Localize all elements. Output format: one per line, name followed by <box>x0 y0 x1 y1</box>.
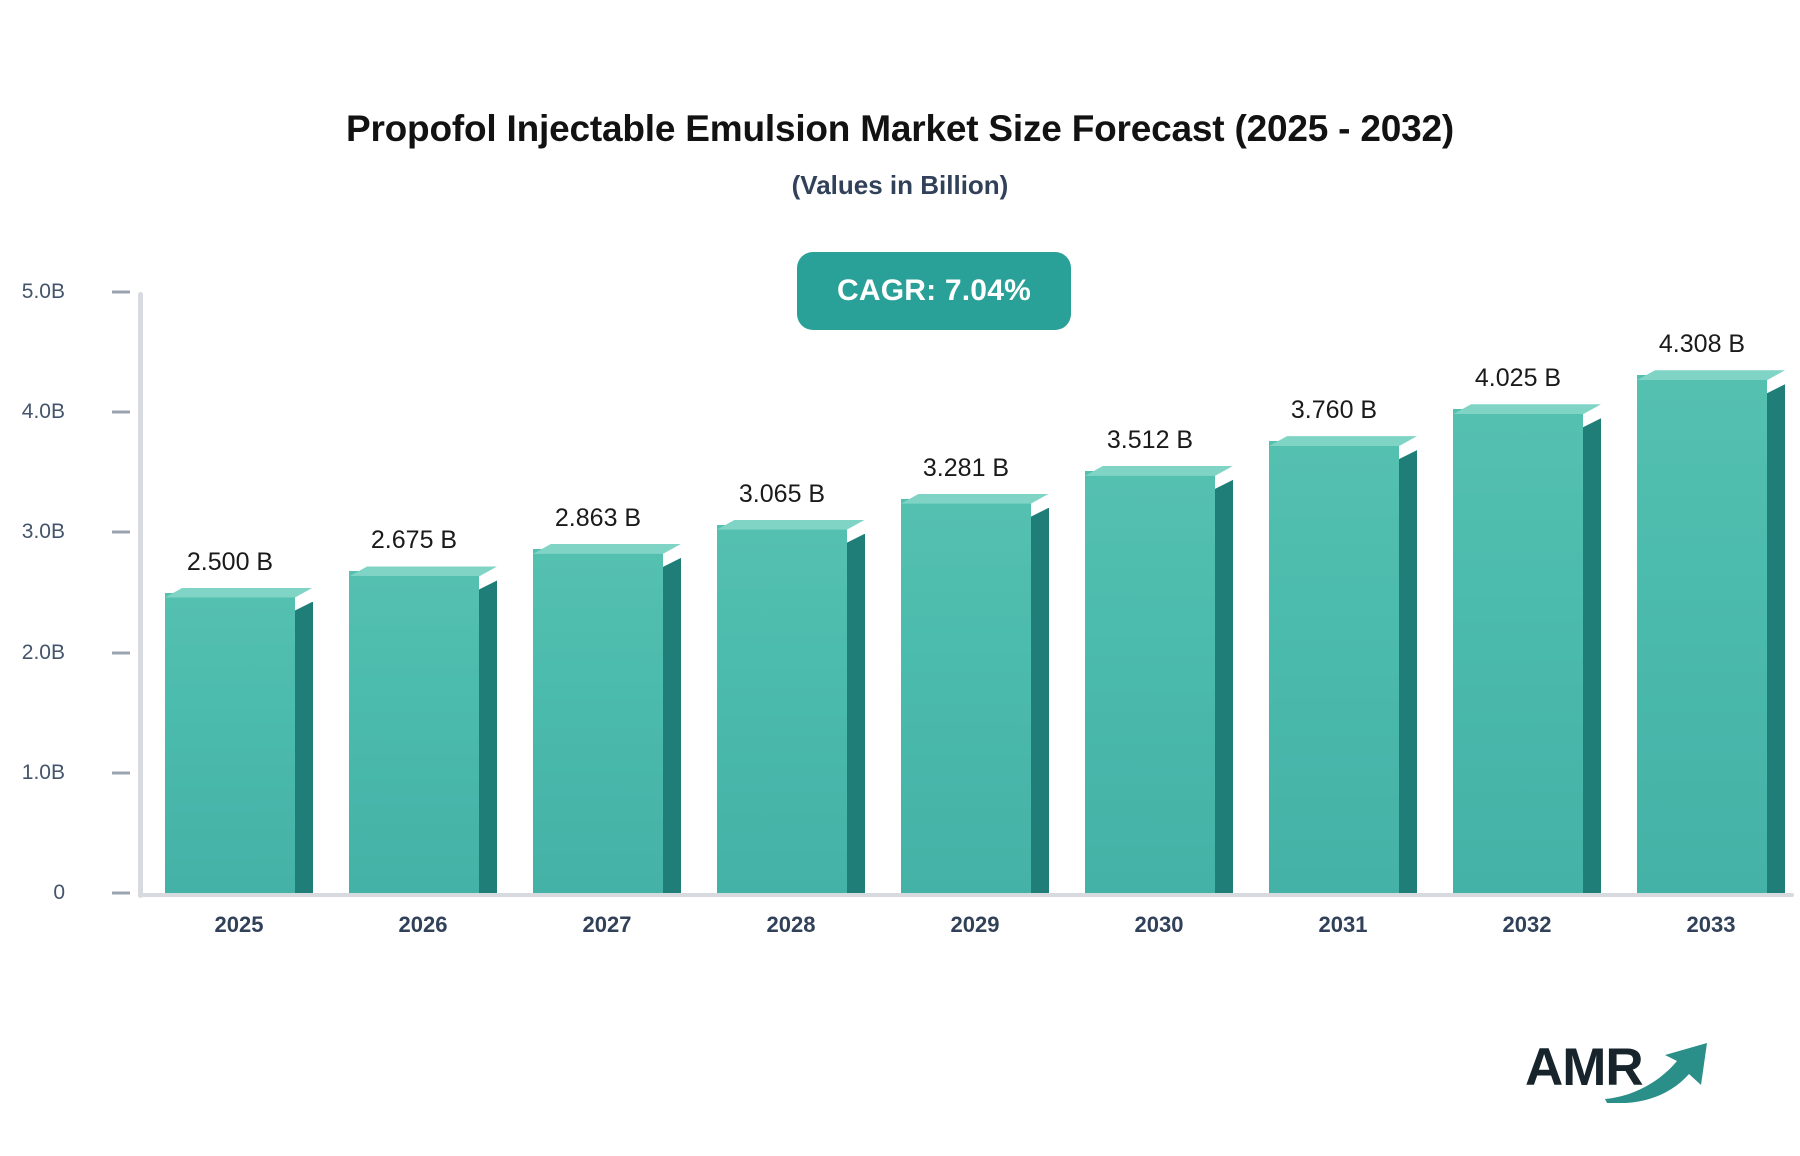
growth-arrow-icon <box>1603 1041 1715 1103</box>
bar-front-face <box>533 549 663 893</box>
bar-side-face <box>1399 450 1417 893</box>
x-tick-label-2025: 2025 <box>215 912 264 938</box>
bar-front-face <box>1637 375 1767 893</box>
x-tick-label-2031: 2031 <box>1319 912 1368 938</box>
plot-area: 01.0B2.0B3.0B4.0B5.0B 2.500 B2.675 B2.86… <box>0 0 1800 1156</box>
bar-value-label: 3.760 B <box>1291 396 1377 425</box>
bar-side-face <box>663 558 681 893</box>
y-tick-mark <box>112 651 130 654</box>
bar-2030[interactable]: 3.512 B <box>1085 471 1215 893</box>
bar-side-face <box>847 534 865 893</box>
bar-front-face <box>717 525 847 893</box>
bar-top-face <box>533 544 681 554</box>
y-tick-mark <box>112 531 130 534</box>
bar-2026[interactable]: 2.675 B <box>349 571 479 893</box>
y-tick-mark <box>112 771 130 774</box>
bar-value-label: 2.863 B <box>555 504 641 533</box>
bar-top-face <box>901 494 1049 504</box>
x-tick-label-2029: 2029 <box>951 912 1000 938</box>
bar-top-face <box>1637 370 1785 380</box>
x-tick-label-2028: 2028 <box>767 912 816 938</box>
y-tick-label: 2.0B <box>0 641 65 665</box>
bar-series: 2.500 B2.675 B2.863 B3.065 B3.281 B3.512… <box>138 292 1794 893</box>
bar-top-face <box>1085 466 1233 476</box>
y-tick-mark <box>112 291 130 294</box>
y-tick-label: 3.0B <box>0 520 65 544</box>
bar-top-face <box>349 566 497 576</box>
x-tick-label-2032: 2032 <box>1503 912 1552 938</box>
bar-front-face <box>1085 471 1215 893</box>
bar-2027[interactable]: 2.863 B <box>533 549 663 893</box>
y-tick-label: 4.0B <box>0 400 65 424</box>
bar-front-face <box>1453 409 1583 893</box>
x-tick-label-2027: 2027 <box>583 912 632 938</box>
bar-top-face <box>165 588 313 598</box>
bar-value-label: 4.308 B <box>1659 330 1745 359</box>
y-tick-mark <box>112 411 130 414</box>
bar-front-face <box>1269 441 1399 893</box>
bar-side-face <box>1215 480 1233 893</box>
x-tick-label-2030: 2030 <box>1135 912 1184 938</box>
bar-top-face <box>717 520 865 530</box>
x-tick-label-2026: 2026 <box>399 912 448 938</box>
bar-2032[interactable]: 4.025 B <box>1453 409 1583 893</box>
bar-value-label: 3.065 B <box>739 480 825 509</box>
bar-side-face <box>1031 508 1049 893</box>
bar-front-face <box>901 499 1031 893</box>
bar-side-face <box>295 602 313 894</box>
bar-top-face <box>1453 404 1601 414</box>
bar-value-label: 2.675 B <box>371 526 457 555</box>
bar-value-label: 2.500 B <box>187 548 273 577</box>
y-tick-mark <box>112 892 130 895</box>
bar-value-label: 3.281 B <box>923 454 1009 483</box>
bar-side-face <box>479 580 497 893</box>
bar-2033[interactable]: 4.308 B <box>1637 375 1767 893</box>
bar-value-label: 4.025 B <box>1475 364 1561 393</box>
bar-front-face <box>349 571 479 893</box>
bar-side-face <box>1583 418 1601 893</box>
chart-page: Propofol Injectable Emulsion Market Size… <box>0 0 1800 1156</box>
bar-2029[interactable]: 3.281 B <box>901 499 1031 893</box>
bar-2025[interactable]: 2.500 B <box>165 593 295 894</box>
x-tick-label-2033: 2033 <box>1687 912 1736 938</box>
bar-top-face <box>1269 436 1417 446</box>
bar-2028[interactable]: 3.065 B <box>717 525 847 893</box>
bar-side-face <box>1767 384 1785 893</box>
bar-front-face <box>165 593 295 894</box>
x-axis-line <box>138 893 1794 897</box>
y-tick-label: 1.0B <box>0 761 65 785</box>
amr-logo: AMR <box>1525 1035 1715 1107</box>
y-tick-label: 0 <box>0 881 65 905</box>
y-tick-label: 5.0B <box>0 280 65 304</box>
bar-value-label: 3.512 B <box>1107 426 1193 455</box>
bar-2031[interactable]: 3.760 B <box>1269 441 1399 893</box>
